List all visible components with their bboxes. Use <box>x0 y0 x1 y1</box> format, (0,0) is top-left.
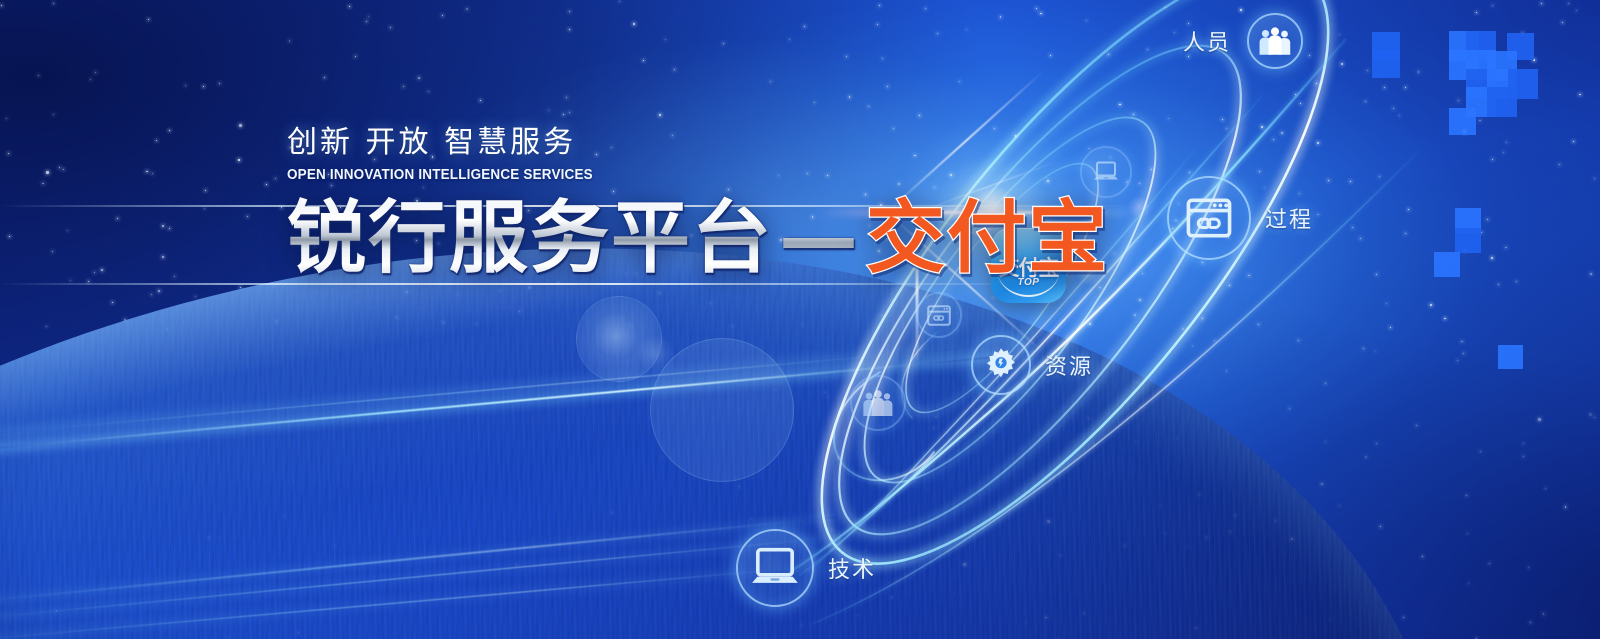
people-icon <box>1257 27 1293 56</box>
window-link-icon <box>927 305 951 326</box>
node-technology-bubble <box>736 529 814 607</box>
page-title-primary: 锐行服务平台 <box>287 192 773 284</box>
node-resources[interactable]: 资源 <box>971 335 1093 395</box>
decor-square-16 <box>1455 228 1481 253</box>
orbit-node-window-bubble <box>916 292 962 338</box>
laptop-icon <box>750 547 800 589</box>
headline-block: 创新 开放 智慧服务 OPEN INNOVATION INTELLIGENCE … <box>287 128 1109 281</box>
page-title-dash: — <box>773 192 866 284</box>
node-resources-label: 资源 <box>1045 349 1093 381</box>
decor-square-18 <box>1498 345 1523 369</box>
page-title-product: 交付宝 <box>866 192 1109 284</box>
node-technology[interactable]: 技术 <box>736 529 876 607</box>
decor-square-17 <box>1434 252 1460 277</box>
orbit-node-people[interactable] <box>850 375 906 431</box>
people-icon <box>861 390 895 417</box>
node-people-label: 人员 <box>1183 25 1231 57</box>
decor-square-13 <box>1487 87 1517 117</box>
node-people[interactable]: 人员 <box>1183 13 1303 69</box>
promo-banner: 交付宝 TOP <box>0 0 1600 639</box>
node-process-bubble <box>1167 176 1251 260</box>
node-process[interactable]: 过程 <box>1167 176 1313 260</box>
tagline-chinese: 创新 开放 智慧服务 <box>287 128 1109 158</box>
decor-square-14 <box>1449 108 1476 135</box>
node-technology-label: 技术 <box>828 552 876 584</box>
window-link-icon <box>1186 198 1232 238</box>
node-people-bubble <box>1247 13 1303 69</box>
gear-icon <box>981 345 1021 385</box>
node-process-label: 过程 <box>1265 202 1313 234</box>
page-title: 锐行服务平台—交付宝 <box>287 197 1109 281</box>
decor-square-2 <box>1372 50 1400 78</box>
orbit-node-people-bubble <box>850 375 906 431</box>
node-resources-bubble <box>971 335 1031 395</box>
tagline-english: OPEN INNOVATION INTELLIGENCE SERVICES <box>287 167 1051 183</box>
orbit-node-window[interactable] <box>916 292 962 338</box>
